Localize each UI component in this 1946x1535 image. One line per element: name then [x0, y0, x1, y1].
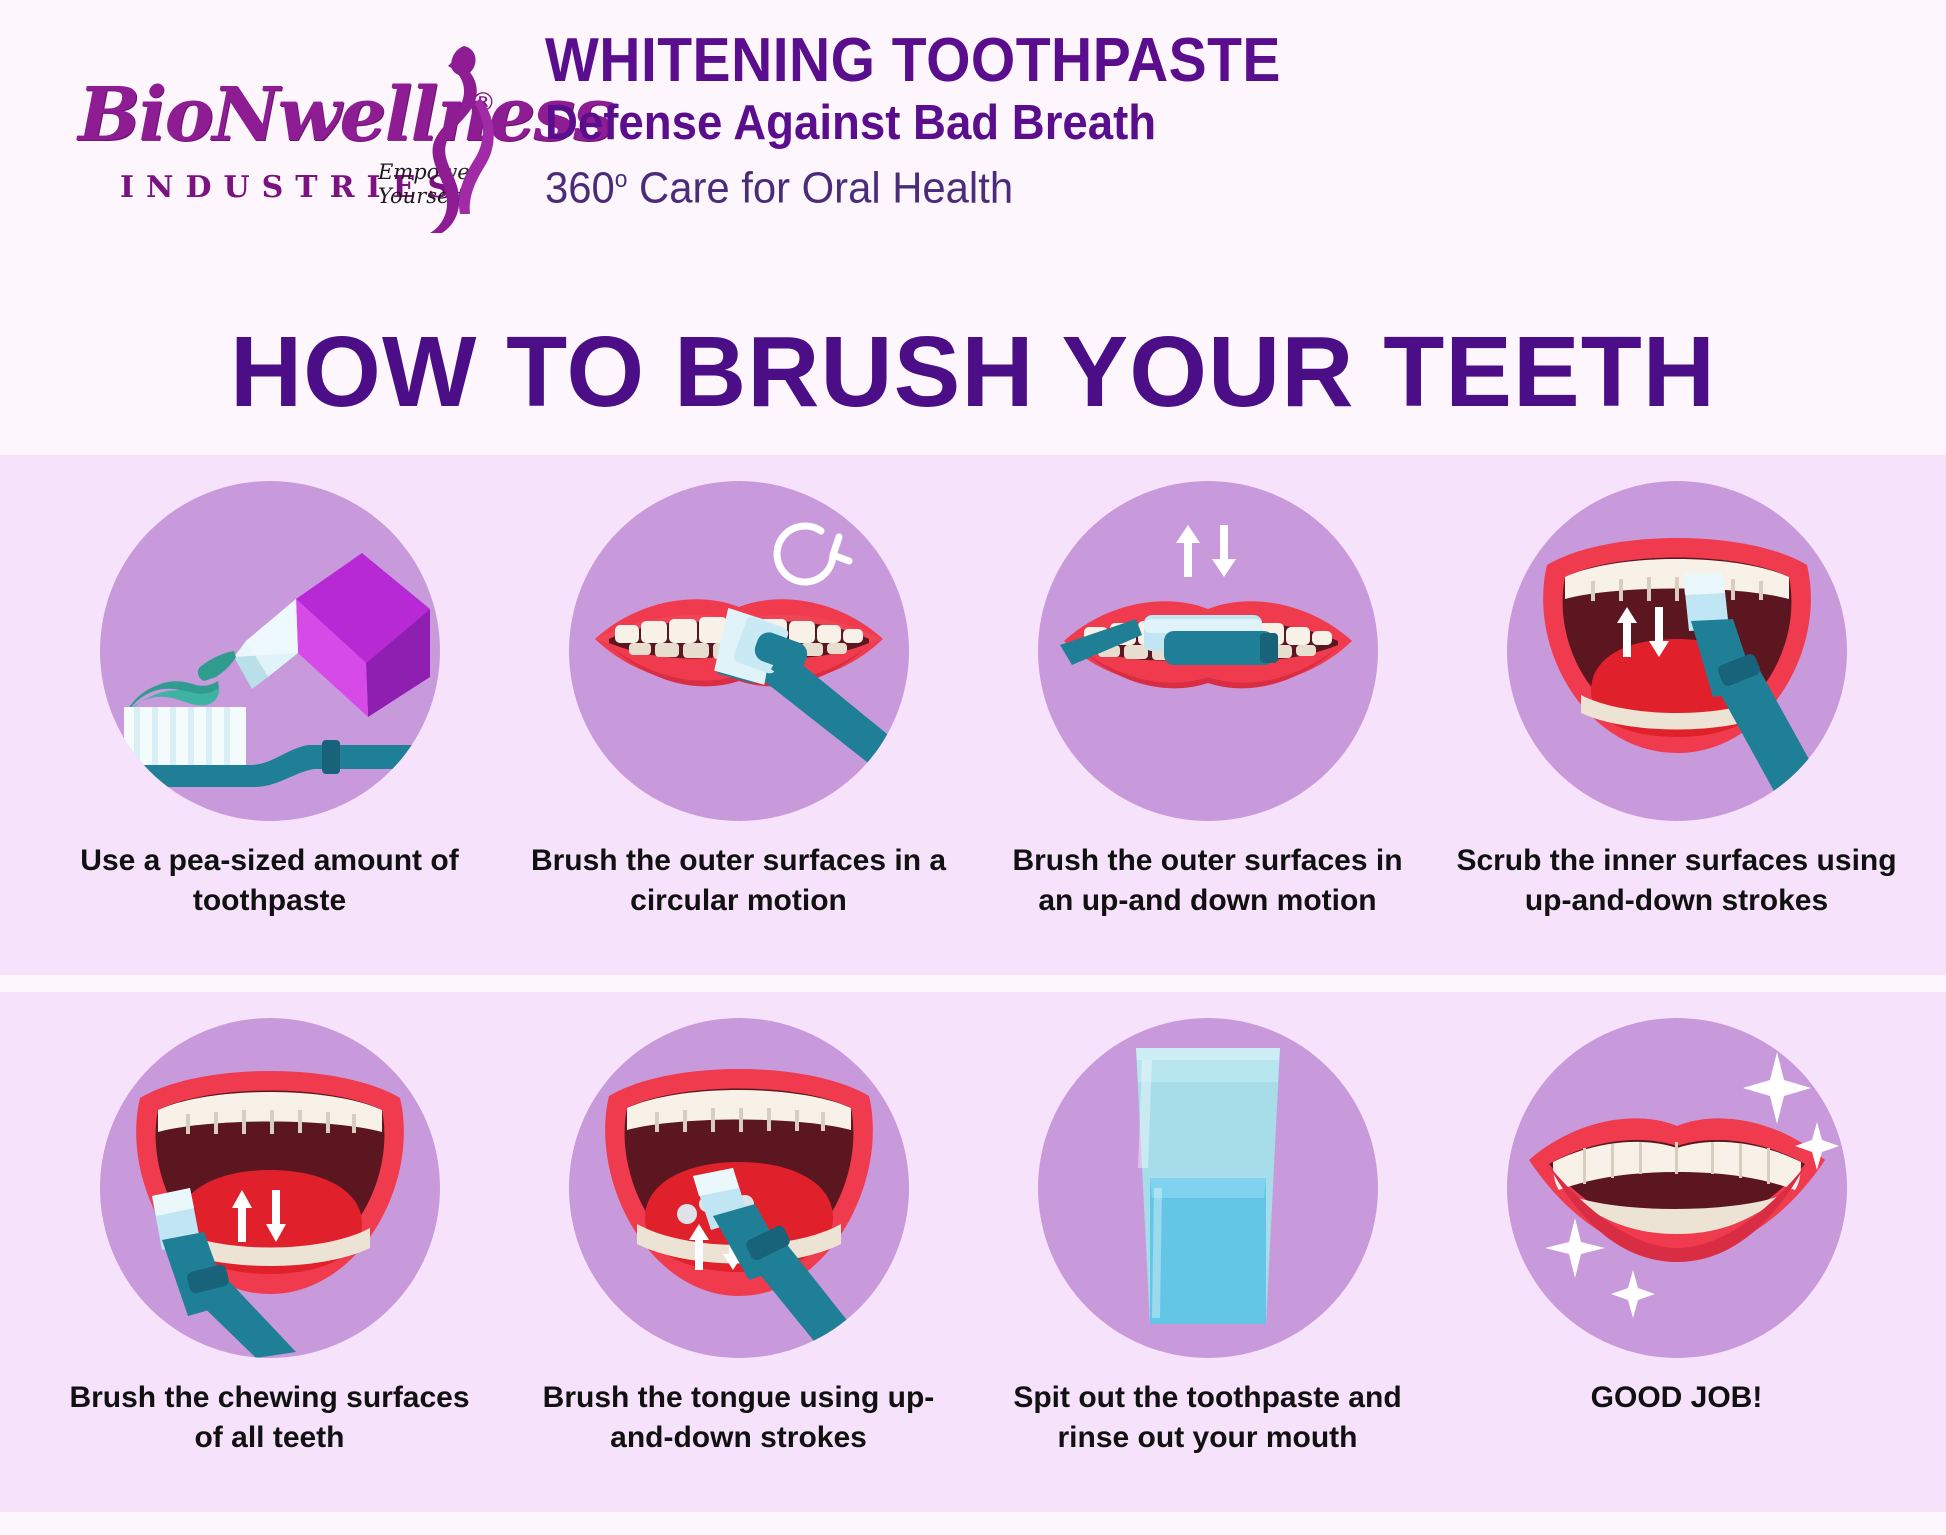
step-3-caption: Brush the outer surfaces in an up-and do… [998, 841, 1418, 921]
woman-silhouette-icon [390, 38, 510, 233]
step-8-illustration [1507, 1018, 1847, 1358]
headline-line-3: 360o Care for Oral Health [545, 152, 1495, 217]
toothbrush-bristles-icon [124, 707, 246, 765]
steps-row-1: Use a pea-sized amount of toothpaste [0, 455, 1946, 975]
infographic-page: BioNwellness ® INDUSTRIES Empower Yourse… [0, 0, 1946, 1535]
headline-line-2: Defense Against Bad Breath [545, 94, 1475, 152]
page-title: HOW TO BRUSH YOUR TEETH [0, 320, 1946, 424]
step-2-caption: Brush the outer surfaces in a circular m… [529, 841, 949, 921]
step-4-illustration [1507, 481, 1847, 821]
band-divider [0, 975, 1946, 992]
header: BioNwellness ® INDUSTRIES Empower Yourse… [0, 0, 1946, 455]
step-5-caption: Brush the chewing surfaces of all teeth [60, 1378, 480, 1458]
brand-logo: BioNwellness ® INDUSTRIES Empower Yourse… [60, 30, 560, 220]
step-4-caption: Scrub the inner surfaces using up-and-do… [1452, 841, 1902, 921]
step-6-illustration [569, 1018, 909, 1358]
brand-wordmark: BioNwellness [78, 72, 613, 158]
step-7-illustration [1038, 1018, 1378, 1358]
headline-360: 360 [545, 164, 615, 213]
step-2: Brush the outer surfaces in a circular m… [504, 455, 973, 975]
step-8: GOOD JOB! [1442, 992, 1911, 1512]
step-4: Scrub the inner surfaces using up-and-do… [1442, 455, 1911, 975]
product-headline: WHITENING TOOTHPASTE Defense Against Bad… [545, 28, 1545, 217]
degree-symbol: o [615, 166, 628, 193]
water-glass-icon [1136, 1048, 1280, 1324]
step-8-caption: GOOD JOB! [1467, 1378, 1887, 1418]
step-3-illustration [1038, 481, 1378, 821]
step-5: Brush the chewing surfaces of all teeth [35, 992, 504, 1512]
step-2-illustration [569, 481, 909, 821]
circular-arrow-icon [777, 526, 849, 582]
step-1-illustration [100, 481, 440, 821]
toothpaste-tube-icon [234, 553, 430, 717]
steps-row-2: Brush the chewing surfaces of all teeth [0, 992, 1946, 1512]
step-7-caption: Spit out the toothpaste and rinse out yo… [998, 1378, 1418, 1458]
step-5-illustration [100, 1018, 440, 1358]
step-1: Use a pea-sized amount of toothpaste [35, 455, 504, 975]
up-down-arrows-icon [1176, 525, 1236, 577]
headline-line-1: WHITENING TOOTHPASTE [545, 28, 1465, 94]
step-6: Brush the tongue using up-and-down strok… [504, 992, 973, 1512]
step-6-caption: Brush the tongue using up-and-down strok… [529, 1378, 949, 1458]
step-3: Brush the outer surfaces in an up-and do… [973, 455, 1442, 975]
step-1-caption: Use a pea-sized amount of toothpaste [60, 841, 480, 921]
headline-care-text: Care for Oral Health [627, 164, 1013, 213]
step-7: Spit out the toothpaste and rinse out yo… [973, 992, 1442, 1512]
